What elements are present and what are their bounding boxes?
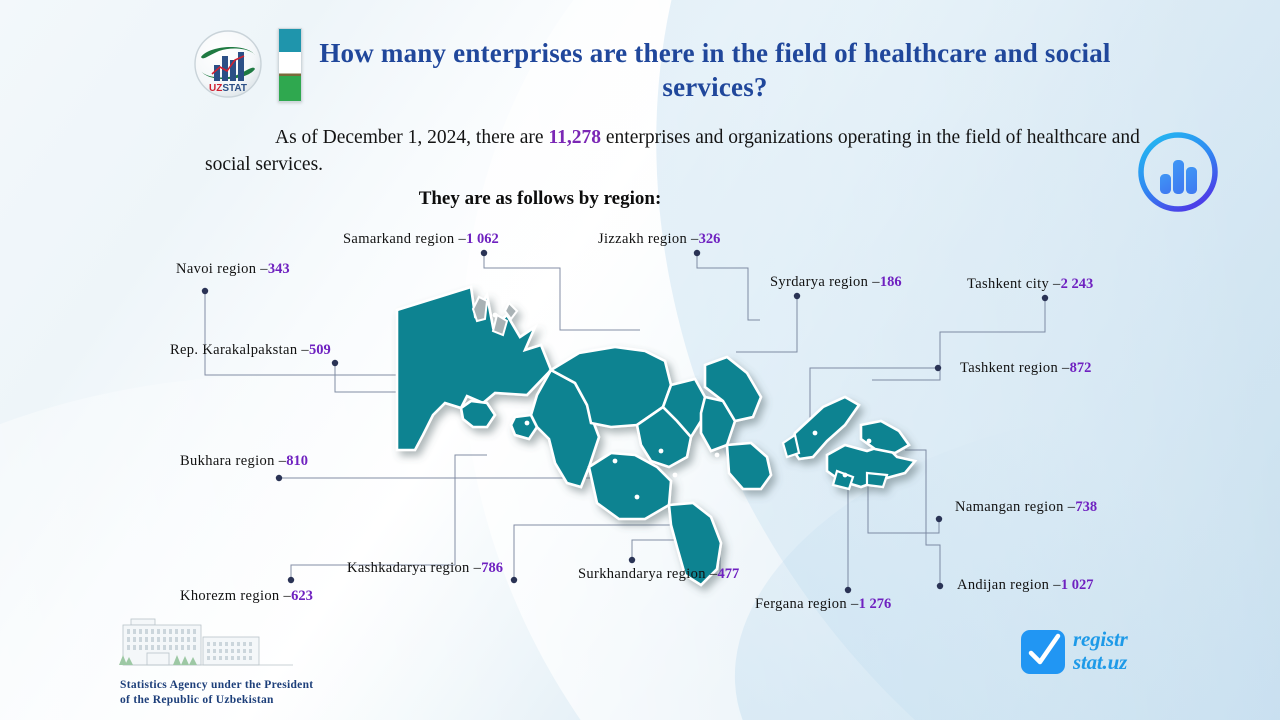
agency-building-illustration <box>113 615 303 677</box>
by-region-heading: They are as follows by region: <box>300 188 780 210</box>
bar-chart-circle-badge <box>1134 128 1222 216</box>
region-label-tashkent-city: Tashkent city –2 243 <box>967 276 1093 293</box>
region-dash: – <box>691 231 699 247</box>
region-label-kashkadarya: Kashkadarya region –786 <box>347 560 503 577</box>
registrstat-logo[interactable]: registr stat.uz <box>1021 628 1236 678</box>
region-value: 326 <box>699 231 721 247</box>
uzbekistan-flag-bar <box>278 28 302 102</box>
agency-line-2: of the Republic of Uzbekistan <box>120 693 360 708</box>
region-value: 1 276 <box>859 596 892 612</box>
region-value: 738 <box>1075 499 1097 515</box>
region-label-samarkand: Samarkand region –1 062 <box>343 231 499 248</box>
uzstat-logo: UZSTAT <box>193 29 263 99</box>
agency-line-1: Statistics Agency under the President <box>120 678 360 693</box>
region-label-jizzakh: Jizzakh region –326 <box>598 231 720 248</box>
region-name: Tashkent city <box>967 276 1049 292</box>
region-value: 2 243 <box>1061 276 1094 292</box>
subtitle-text: As of December 1, 2024, there are 11,278… <box>205 124 1140 178</box>
region-dash: – <box>851 596 859 612</box>
region-label-namangan: Namangan region –738 <box>955 499 1097 516</box>
infographic-canvas: UZSTAT How many enterprises are there in… <box>0 0 1280 720</box>
region-value: 1 062 <box>466 231 499 247</box>
region-name: Kashkadarya region <box>347 560 470 576</box>
region-name: Andijan region <box>957 577 1049 593</box>
region-name: Tashkent region <box>960 360 1058 376</box>
region-label-fergana: Fergana region –1 276 <box>755 596 891 613</box>
region-name: Rep. Karakalpakstan <box>170 342 297 358</box>
region-dash: – <box>1062 360 1070 376</box>
region-value: 872 <box>1070 360 1092 376</box>
region-name: Namangan region <box>955 499 1064 515</box>
region-value: 477 <box>717 566 739 582</box>
agency-name: Statistics Agency under the President of… <box>120 678 360 708</box>
checkmark-icon <box>1021 630 1065 674</box>
page-title: How many enterprises are there in the fi… <box>300 36 1130 104</box>
region-dash: – <box>260 261 268 277</box>
region-name: Samarkand region <box>343 231 455 247</box>
region-label-khorezm: Khorezm region –623 <box>180 588 313 605</box>
region-dash: – <box>284 588 292 604</box>
registrstat-line-1: registr <box>1073 628 1128 651</box>
region-label-syrdarya: Syrdarya region –186 <box>770 274 902 291</box>
region-dash: – <box>872 274 880 290</box>
region-dash: – <box>1053 276 1061 292</box>
region-label-navoi: Navoi region –343 <box>176 261 290 278</box>
region-name: Fergana region <box>755 596 847 612</box>
region-name: Surkhandarya region <box>578 566 706 582</box>
region-label-karakalpakstan: Rep. Karakalpakstan –509 <box>170 342 331 359</box>
region-label-andijan: Andijan region –1 027 <box>957 577 1094 594</box>
region-value: 1 027 <box>1061 577 1094 593</box>
region-dash: – <box>301 342 309 358</box>
region-name: Navoi region <box>176 261 256 277</box>
region-dash: – <box>1053 577 1061 593</box>
region-name: Bukhara region <box>180 453 275 469</box>
region-value: 186 <box>880 274 902 290</box>
subtitle-prefix: As of December 1, 2024, there are <box>275 127 548 148</box>
registrstat-line-2: stat.uz <box>1073 651 1128 674</box>
region-value: 810 <box>286 453 308 469</box>
region-label-surkhandarya: Surkhandarya region –477 <box>578 566 739 583</box>
region-value: 509 <box>309 342 331 358</box>
region-label-bukhara: Bukhara region –810 <box>180 453 308 470</box>
region-value: 786 <box>481 560 503 576</box>
uzbekistan-map <box>375 275 955 605</box>
registrstat-wordmark: registr stat.uz <box>1073 628 1128 674</box>
region-dash: – <box>458 231 466 247</box>
region-name: Jizzakh region <box>598 231 687 247</box>
region-name: Syrdarya region <box>770 274 868 290</box>
region-label-tashkent-region: Tashkent region –872 <box>960 360 1091 377</box>
total-count: 11,278 <box>548 127 601 148</box>
region-value: 343 <box>268 261 290 277</box>
svg-text:UZSTAT: UZSTAT <box>209 83 247 94</box>
region-value: 623 <box>291 588 313 604</box>
region-name: Khorezm region <box>180 588 280 604</box>
